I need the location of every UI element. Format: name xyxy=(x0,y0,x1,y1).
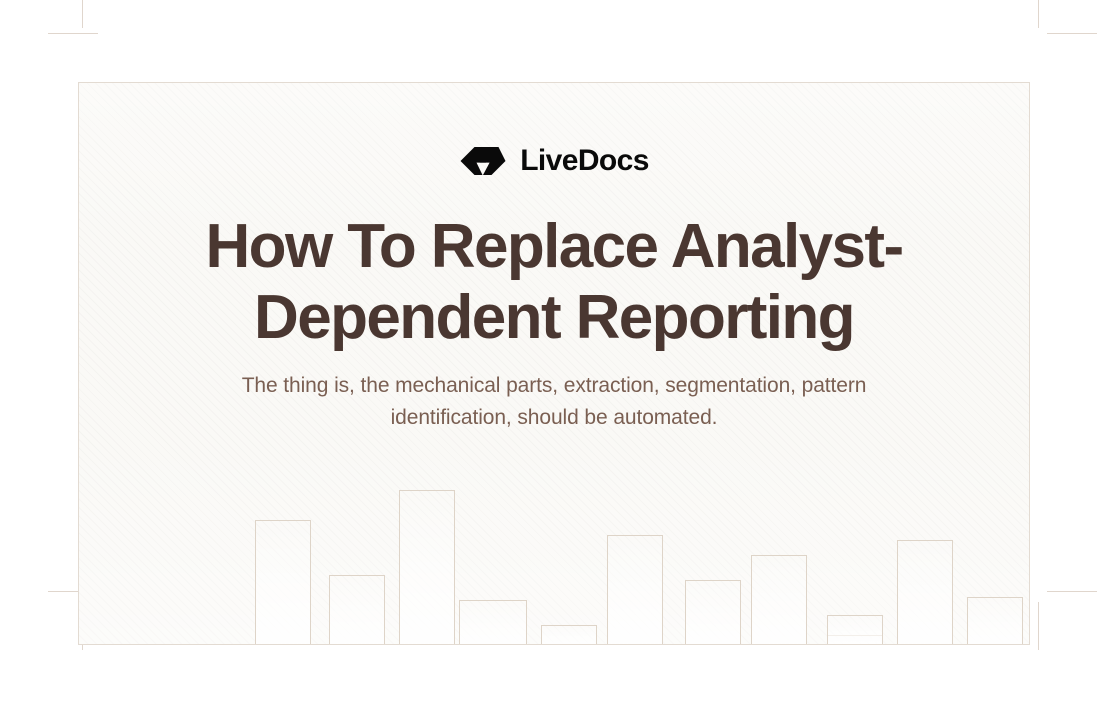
crop-mark-bottom-right-horizontal xyxy=(1047,591,1097,592)
crop-mark-top-left-vertical xyxy=(82,0,83,28)
crop-mark-top-left-horizontal xyxy=(48,33,98,34)
page-subtitle: The thing is, the mechanical parts, extr… xyxy=(214,370,894,434)
crop-mark-top-right-horizontal xyxy=(1047,33,1097,34)
brand-lockup: LiveDocs xyxy=(459,146,649,176)
crop-mark-top-right-vertical xyxy=(1038,0,1039,28)
hero-card: LiveDocs How To Replace Analyst-Dependen… xyxy=(78,82,1030,645)
screenshot-canvas: LiveDocs How To Replace Analyst-Dependen… xyxy=(0,0,1120,720)
brand-wordmark: LiveDocs xyxy=(520,146,649,176)
card-content: LiveDocs How To Replace Analyst-Dependen… xyxy=(79,83,1029,644)
crop-mark-bottom-right-vertical xyxy=(1038,602,1039,650)
page-title: How To Replace Analyst-Dependent Reporti… xyxy=(184,212,924,353)
livedocs-chevron-icon xyxy=(459,146,507,176)
